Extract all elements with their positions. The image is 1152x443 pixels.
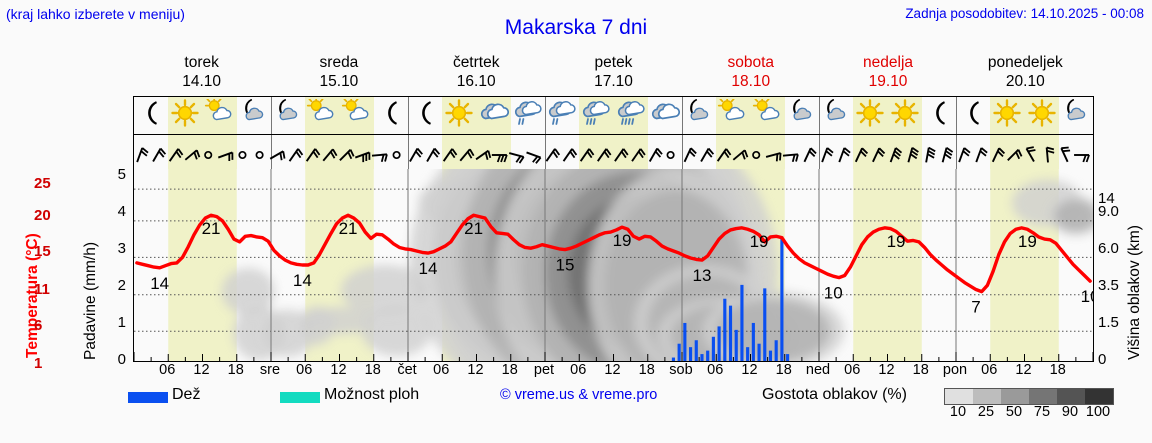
x-tick-18: 18: [365, 362, 381, 378]
density-swatch: [945, 389, 973, 404]
day-header-2: četrtek16.10: [408, 50, 545, 94]
density-tick: 50: [1006, 404, 1022, 420]
precipitation-tick: 3: [104, 240, 126, 257]
cloud-height-axis-label: Višina oblakov (km): [1126, 170, 1152, 360]
day-header-1: sreda15.10: [270, 50, 407, 94]
x-tick-06: 06: [981, 362, 997, 378]
day-header-3: petek17.10: [545, 50, 682, 94]
x-tick-ned: ned: [806, 362, 830, 378]
x-tick-18: 18: [228, 362, 244, 378]
temperature-annotation: 19: [1018, 232, 1037, 251]
density-tick: 25: [978, 404, 994, 420]
density-tick: 75: [1034, 404, 1050, 420]
weather-icon-moon-cloud: [1056, 97, 1096, 135]
day-header-5: nedelja19.10: [819, 50, 956, 94]
temperature-annotation: 19: [613, 231, 632, 250]
x-tick-06: 06: [707, 362, 723, 378]
precipitation-bar: [689, 347, 692, 361]
temperature-annotation: 10: [1081, 287, 1093, 306]
density-swatch: [1029, 389, 1057, 404]
day-header-6: ponedeljek20.10: [957, 50, 1094, 94]
precipitation-bar: [740, 285, 743, 361]
day-date: 16.10: [408, 72, 545, 91]
day-date: 14.10: [133, 72, 270, 91]
x-axis-tick-labels: 061218sre061218čet061218pet061218sob0612…: [133, 362, 1094, 382]
precipitation-bar: [672, 358, 675, 361]
x-tick-12: 12: [193, 362, 209, 378]
day-date: 20.10: [957, 72, 1094, 91]
day-date: 18.10: [682, 72, 819, 91]
temperature-annotation: 7: [971, 298, 980, 317]
precipitation-bar: [786, 354, 789, 361]
temperature-axis-label: Temperatura (°C): [4, 170, 30, 360]
x-tick-pet: pet: [534, 362, 554, 378]
temperature-tick: 15: [34, 243, 51, 260]
day-name: sobota: [727, 54, 774, 71]
x-tick-čet: čet: [397, 362, 416, 378]
density-tick: 90: [1062, 404, 1078, 420]
cloud-height-tick: 1.5: [1098, 314, 1119, 331]
day-header-4: sobota18.10: [682, 50, 819, 94]
precipitation-bar: [746, 347, 749, 361]
temperature-tick: 11: [34, 281, 50, 298]
density-swatch: [973, 389, 1001, 404]
x-tick-12: 12: [1015, 362, 1031, 378]
temperature-tick: 1: [34, 355, 42, 372]
weather-icon-row: [134, 97, 1093, 135]
daylight-band: [168, 169, 237, 361]
day-name: četrtek: [453, 54, 500, 71]
showers-swatch: [280, 392, 320, 403]
precipitation-bar: [678, 344, 681, 361]
cloud-height-tick: 9.0: [1098, 203, 1119, 220]
x-tick-18: 18: [1050, 362, 1066, 378]
day-date: 15.10: [270, 72, 407, 91]
temperature-annotation: 21: [339, 219, 358, 238]
precipitation-bar: [735, 330, 738, 361]
meteogram-canvas: 14211421142115191319101971910: [134, 169, 1093, 361]
precipitation-tick: 5: [104, 166, 126, 183]
wind-barbs: [134, 135, 1093, 169]
precipitation-tick: 1: [104, 314, 126, 331]
day-header-row: torek14.10sreda15.10četrtek16.10petek17.…: [133, 50, 1094, 94]
x-tick-18: 18: [639, 362, 655, 378]
day-name: ponedeljek: [988, 54, 1063, 71]
precipitation-tick: 0: [104, 351, 126, 368]
precipitation-bar: [775, 340, 778, 361]
x-tick-12: 12: [878, 362, 894, 378]
precipitation-bar: [752, 323, 755, 361]
x-tick-12: 12: [467, 362, 483, 378]
cloud-height-axis-title: Višina oblakov (km): [1126, 225, 1144, 360]
x-tick-06: 06: [159, 362, 175, 378]
day-date: 17.10: [545, 72, 682, 91]
density-swatch: [1001, 389, 1029, 404]
rain-legend-label: Dež: [172, 386, 200, 404]
temperature-annotation: 14: [419, 259, 438, 278]
x-tick-06: 06: [433, 362, 449, 378]
wind-barb-row: [134, 135, 1093, 169]
temperature-annotation: 15: [556, 256, 575, 275]
x-tick-12: 12: [741, 362, 757, 378]
x-tick-sre: sre: [260, 362, 280, 378]
cloud-density-legend-label: Gostota oblakov (%): [762, 386, 907, 404]
temperature-annotation: 19: [750, 232, 769, 251]
x-tick-18: 18: [913, 362, 929, 378]
meteogram-plot[interactable]: 14211421142115191319101971910: [134, 169, 1093, 361]
day-header-0: torek14.10: [133, 50, 270, 94]
temperature-annotation: 21: [202, 219, 221, 238]
temperature-tick: 6: [34, 317, 42, 334]
precipitation-tick: 4: [104, 203, 126, 220]
temperature-tick: 20: [34, 207, 51, 224]
precipitation-bar: [695, 340, 698, 361]
temperature-annotation: 14: [150, 274, 169, 293]
cloud-density-colorbar: [944, 388, 1114, 405]
cloud-height-tick: 3.5: [1098, 277, 1119, 294]
showers-legend-label: Možnost ploh: [324, 386, 419, 404]
temperature-tick: 25: [34, 175, 51, 192]
last-updated: Zadnja posodobitev: 14.10.2025 - 00:08: [905, 6, 1144, 21]
cloud-height-tick: 6.0: [1098, 240, 1119, 257]
temperature-annotation: 13: [693, 266, 712, 285]
x-tick-06: 06: [844, 362, 860, 378]
x-tick-sob: sob: [669, 362, 692, 378]
precipitation-bar: [757, 344, 760, 361]
precipitation-tick: 2: [104, 277, 126, 294]
day-name: torek: [184, 54, 218, 71]
x-tick-18: 18: [776, 362, 792, 378]
day-name: nedelja: [863, 54, 913, 71]
precipitation-bar: [706, 351, 709, 361]
precipitation-bar: [700, 354, 703, 361]
precipitation-bar: [729, 306, 732, 361]
precipitation-bar: [769, 351, 772, 361]
precipitation-axis-title: Padavine (mm/h): [82, 242, 100, 360]
precipitation-bar: [712, 337, 715, 361]
precipitation-bar: [723, 299, 726, 361]
copyright-link[interactable]: © vreme.us & vreme.pro: [500, 387, 657, 403]
cloud-density-tick-labels: 1025507590100: [944, 404, 1124, 422]
precipitation-bar: [718, 326, 721, 361]
x-tick-pon: pon: [943, 362, 967, 378]
day-name: petek: [595, 54, 633, 71]
x-tick-06: 06: [296, 362, 312, 378]
temperature-annotation: 14: [293, 271, 312, 290]
temperature-annotation: 21: [464, 219, 483, 238]
temperature-annotation: 10: [824, 284, 843, 303]
density-tick: 100: [1086, 404, 1110, 420]
rain-swatch: [128, 392, 168, 403]
precipitation-bar: [780, 236, 783, 361]
temperature-annotation: 19: [887, 232, 906, 251]
legend: Dež Možnost ploh © vreme.us & vreme.pro …: [0, 386, 1152, 426]
x-tick-18: 18: [502, 362, 518, 378]
precipitation-axis-label: Padavine (mm/h): [60, 170, 86, 360]
daylight-band: [853, 169, 922, 361]
x-tick-12: 12: [604, 362, 620, 378]
density-tick: 10: [950, 404, 966, 420]
density-swatch: [1085, 389, 1113, 404]
precipitation-bar: [763, 288, 766, 361]
day-name: sreda: [320, 54, 359, 71]
density-swatch: [1057, 389, 1085, 404]
precipitation-bar: [683, 323, 686, 361]
day-date: 19.10: [819, 72, 956, 91]
x-tick-12: 12: [330, 362, 346, 378]
cloud-height-tick: 0: [1098, 351, 1106, 368]
x-tick-06: 06: [570, 362, 586, 378]
